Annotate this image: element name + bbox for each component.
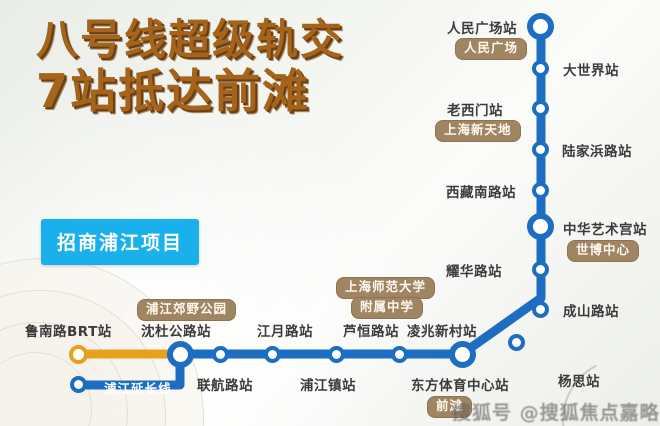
badge-shida-fuzhong-line-1: 上海师范大学	[345, 280, 426, 295]
station-dot-renmin-guangchang[interactable]	[527, 13, 554, 40]
badge-shida-fuzhong: 上海师范大学	[336, 277, 435, 299]
station-label-dongfang-tiyu-zhongxin: 东方体育中心站	[411, 374, 509, 394]
station-dot-dashijie[interactable]	[532, 60, 549, 77]
station-dot-lingzhao-xincun[interactable]	[391, 346, 408, 363]
station-dot-laoximen[interactable]	[532, 100, 549, 117]
station-dot-lunan-lu-brt[interactable]	[69, 345, 88, 364]
station-dot-shendu-gonglu[interactable]	[167, 341, 194, 368]
station-label-lunan-lu-brt: 鲁南路BRT站	[25, 320, 112, 340]
station-label-xizang-nan-lu: 西藏南路站	[446, 181, 516, 201]
extension-line-label: 浦江延长线	[104, 378, 172, 397]
station-dot-yaohua-lu[interactable]	[532, 261, 549, 278]
station-label-pujiang-zhen: 浦江镇站	[300, 374, 356, 394]
headline-line-2: 7站抵达前滩	[36, 68, 344, 116]
station-label-luheng-lu: 芦恒路站	[343, 320, 399, 340]
station-label-chengshan-lu: 成山路站	[563, 300, 619, 320]
station-label-dashijie: 大世界站	[563, 59, 619, 79]
station-label-shendu-gonglu: 沈杜公路站	[141, 320, 211, 340]
station-dot-xizang-nan-lu[interactable]	[532, 182, 549, 199]
station-label-lujiabang-lu: 陆家浜路站	[562, 140, 632, 160]
badge-shida-fuzhong-line-2: 附属中学	[360, 300, 414, 315]
station-label-yangsi: 杨思站	[558, 370, 600, 390]
station-dot-yangsi[interactable]	[508, 334, 525, 351]
badge-shibo-zhongxin: 世博中心	[567, 240, 639, 262]
station-label-lingzhao-xincun: 凌兆新村站	[407, 320, 477, 340]
headline-line-1: 八号线超级轨交	[36, 18, 344, 62]
station-dot-chengshan-lu[interactable]	[532, 301, 549, 318]
station-label-lianhang-lu: 联航路站	[197, 374, 253, 394]
station-label-yaohua-lu: 耀华路站	[446, 260, 502, 280]
station-dot-luheng-lu[interactable]	[328, 346, 345, 363]
headline: 八号线超级轨交 7站抵达前滩	[36, 18, 344, 116]
station-label-renmin-guangchang: 人民广场站	[447, 17, 517, 37]
station-label-zhonghua-yishugong: 中华艺术宫站	[563, 218, 647, 238]
poster-root: 八号线超级轨交 7站抵达前滩 招商浦江项目 浦江延长线 人民广场站 大世界站 老…	[0, 0, 660, 426]
badge-renmin-guangchang: 人民广场	[455, 38, 527, 60]
badge-shanghai-xintiandi: 上海新天地	[435, 120, 521, 142]
station-dot-lujiabang-lu[interactable]	[532, 141, 549, 158]
badge-pujiang-jiaoye-gongyuan: 浦江郊野公园	[137, 299, 236, 321]
station-label-laoximen: 老西门站	[447, 99, 503, 119]
watermark-text: 搜狐号 @搜狐焦点嘉略关站	[452, 398, 660, 425]
station-dot-pujiang-branch-end[interactable]	[70, 376, 87, 393]
station-dot-jiangyue-lu[interactable]	[212, 346, 229, 363]
project-name-chip[interactable]: 招商浦江项目	[41, 219, 199, 265]
station-dot-pujiang-zhen[interactable]	[264, 346, 281, 363]
station-dot-dongfang-tiyu-zhongxin[interactable]	[449, 341, 476, 368]
station-label-jiangyue-lu: 江月路站	[257, 320, 313, 340]
station-dot-zhonghua-yishugong[interactable]	[527, 213, 554, 240]
badge-shida-fuzhong-line-2-wrap: 附属中学	[351, 297, 423, 319]
